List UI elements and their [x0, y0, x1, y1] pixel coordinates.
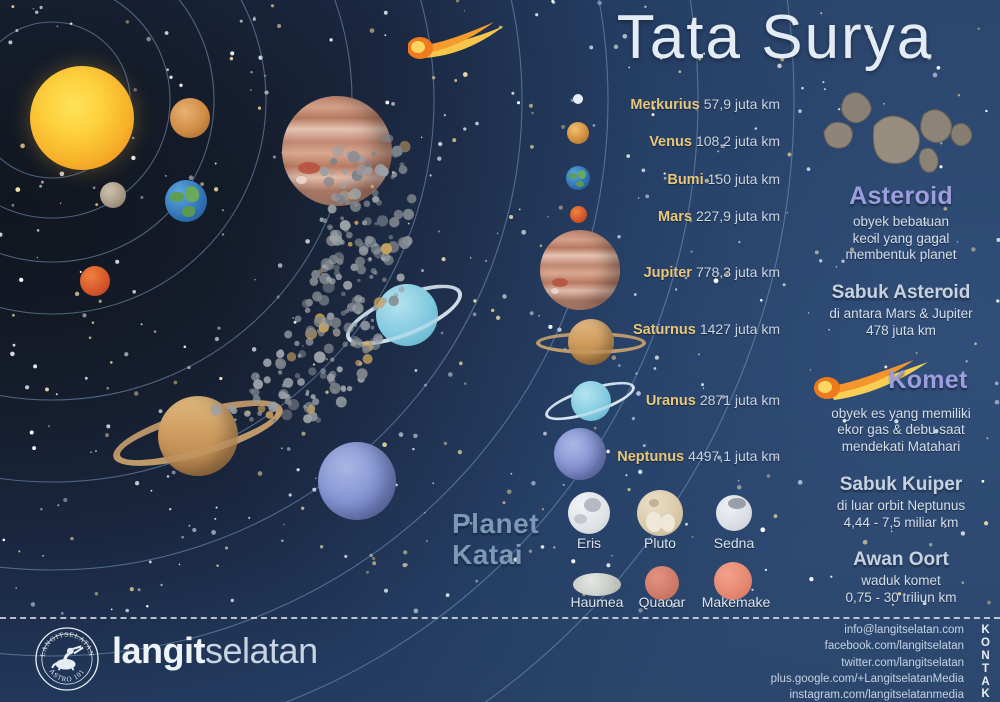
comet-desc-2: ekor gas & debu saat [806, 422, 996, 439]
dwarf-heading-line2: Katai [452, 539, 539, 570]
asteroid-desc-1: obyek bebatuan [806, 214, 996, 231]
dwarf-planets-heading: Planet Katai [452, 508, 539, 571]
contact-googleplus[interactable]: plus.google.com/+LangitselatanMedia [664, 671, 964, 687]
comet-title: Komet [806, 366, 996, 395]
uranus-graphic [342, 262, 466, 366]
planet-row-venus: Venus 108,2 juta km [649, 133, 780, 150]
list-venus-icon [567, 122, 589, 144]
brand-bold: langit [112, 630, 205, 671]
venus-graphic [170, 98, 210, 138]
saturn-graphic [110, 372, 286, 494]
dwarf-label-quaoar: Quaoar [622, 594, 702, 610]
brand-light: selatan [205, 630, 318, 671]
comet-desc-1: obyek es yang memiliki [806, 406, 996, 423]
planet-name: Neptunus [617, 449, 684, 465]
planet-distance: 57,9 juta km [704, 96, 780, 112]
sun-graphic [30, 66, 134, 170]
list-uranus-icon [543, 370, 637, 426]
oort-desc-1: waduk komet [806, 573, 996, 590]
svg-text:ASTRO 101: ASTRO 101 [48, 668, 87, 684]
planet-row-neptunus: Neptunus 4497,1 juta km [617, 448, 780, 465]
planet-name: Bumi [667, 172, 703, 188]
brand-wordmark: langitselatan [112, 630, 318, 672]
list-mercury-icon [573, 94, 583, 104]
mars-graphic [80, 266, 110, 296]
asteroid-title: Asteroid [806, 182, 996, 211]
kontak-vertical-label: KONTAK [981, 624, 991, 701]
list-mars-icon [570, 206, 587, 223]
pluto-graphic [637, 490, 683, 536]
dwarf-label-pluto: Pluto [620, 535, 700, 551]
asteroid-belt-title: Sabuk Asteroid [806, 282, 996, 304]
planet-row-merkurius: Merkurius 57,9 juta km [630, 96, 780, 113]
sedna-graphic [716, 495, 752, 531]
planet-name: Jupiter [644, 265, 692, 281]
eris-graphic [568, 492, 610, 534]
planet-name: Venus [649, 134, 692, 150]
planet-distance: 227,9 juta km [696, 208, 780, 224]
asteroid-belt-desc-1: di antara Mars & Jupiter [806, 306, 996, 323]
earth-graphic [165, 180, 207, 222]
planet-row-bumi: Bumi 150 juta km [667, 171, 780, 188]
asteroid-desc-2: kecil yang gagal [806, 231, 996, 248]
neptune-graphic [318, 442, 396, 520]
list-neptune-icon [554, 428, 606, 480]
dwarf-heading-line1: Planet [452, 508, 539, 539]
planet-distance: 4497,1 juta km [688, 448, 780, 464]
right-info-column: Asteroid obyek bebatuan kecil yang gagal… [806, 88, 996, 607]
comet-desc-3: mendekati Matahari [806, 439, 996, 456]
page-title: Tata Surya [560, 2, 990, 73]
list-saturn-icon [536, 308, 646, 374]
planet-distance: 1427 juta km [700, 321, 780, 337]
planet-row-saturnus: Saturnus 1427 juta km [633, 321, 780, 338]
jupiter-graphic [282, 96, 392, 206]
contact-list: info@langitselatan.com facebook.com/lang… [664, 622, 964, 702]
dwarf-label-makemake: Makemake [693, 594, 779, 610]
planet-distance: 2871 juta km [700, 392, 780, 408]
planet-row-jupiter: Jupiter 778,3 juta km [644, 264, 780, 281]
planet-distance: 150 juta km [708, 171, 780, 187]
asteroid-desc-3: membentuk planet [806, 247, 996, 264]
oort-cloud-title: Awan Oort [806, 549, 996, 571]
kuiper-desc-2: 4,44 - 7,5 miliar km [806, 515, 996, 532]
planet-name: Saturnus [633, 322, 696, 338]
planet-name: Uranus [646, 393, 696, 409]
mercury-graphic [100, 182, 126, 208]
dwarf-label-sedna: Sedna [694, 535, 774, 551]
kuiper-desc-1: di luar orbit Neptunus [806, 498, 996, 515]
infographic-poster: Merkurius 57,9 juta km Venus 108,2 juta … [0, 0, 1000, 702]
dwarf-label-eris: Eris [549, 535, 629, 551]
asteroid-belt-desc-2: 478 juta km [806, 323, 996, 340]
asteroid-cluster-graphic [806, 88, 996, 176]
planet-row-mars: Mars 227,9 juta km [658, 208, 780, 225]
langitselatan-logo-icon: LANGITSELATAN ASTRO 101 [34, 626, 100, 692]
planet-name: Merkurius [630, 97, 699, 113]
haumea-graphic [573, 573, 621, 596]
contact-facebook[interactable]: facebook.com/langitselatan [664, 638, 964, 654]
planet-distance: 778,3 juta km [696, 264, 780, 280]
planet-name: Mars [658, 209, 692, 225]
oort-desc-2: 0,75 - 30 triliun km [806, 590, 996, 607]
list-jupiter-icon [540, 230, 620, 310]
contact-twitter[interactable]: twitter.com/langitselatan [664, 655, 964, 671]
contact-email[interactable]: info@langitselatan.com [664, 622, 964, 638]
planet-row-uranus: Uranus 2871 juta km [646, 392, 780, 409]
list-earth-icon [566, 166, 590, 190]
comet-graphic [408, 18, 514, 62]
planet-distance: 108,2 juta km [696, 133, 780, 149]
contact-instagram[interactable]: instagram.com/langitselatanmedia [664, 687, 964, 702]
kuiper-belt-title: Sabuk Kuiper [806, 474, 996, 496]
